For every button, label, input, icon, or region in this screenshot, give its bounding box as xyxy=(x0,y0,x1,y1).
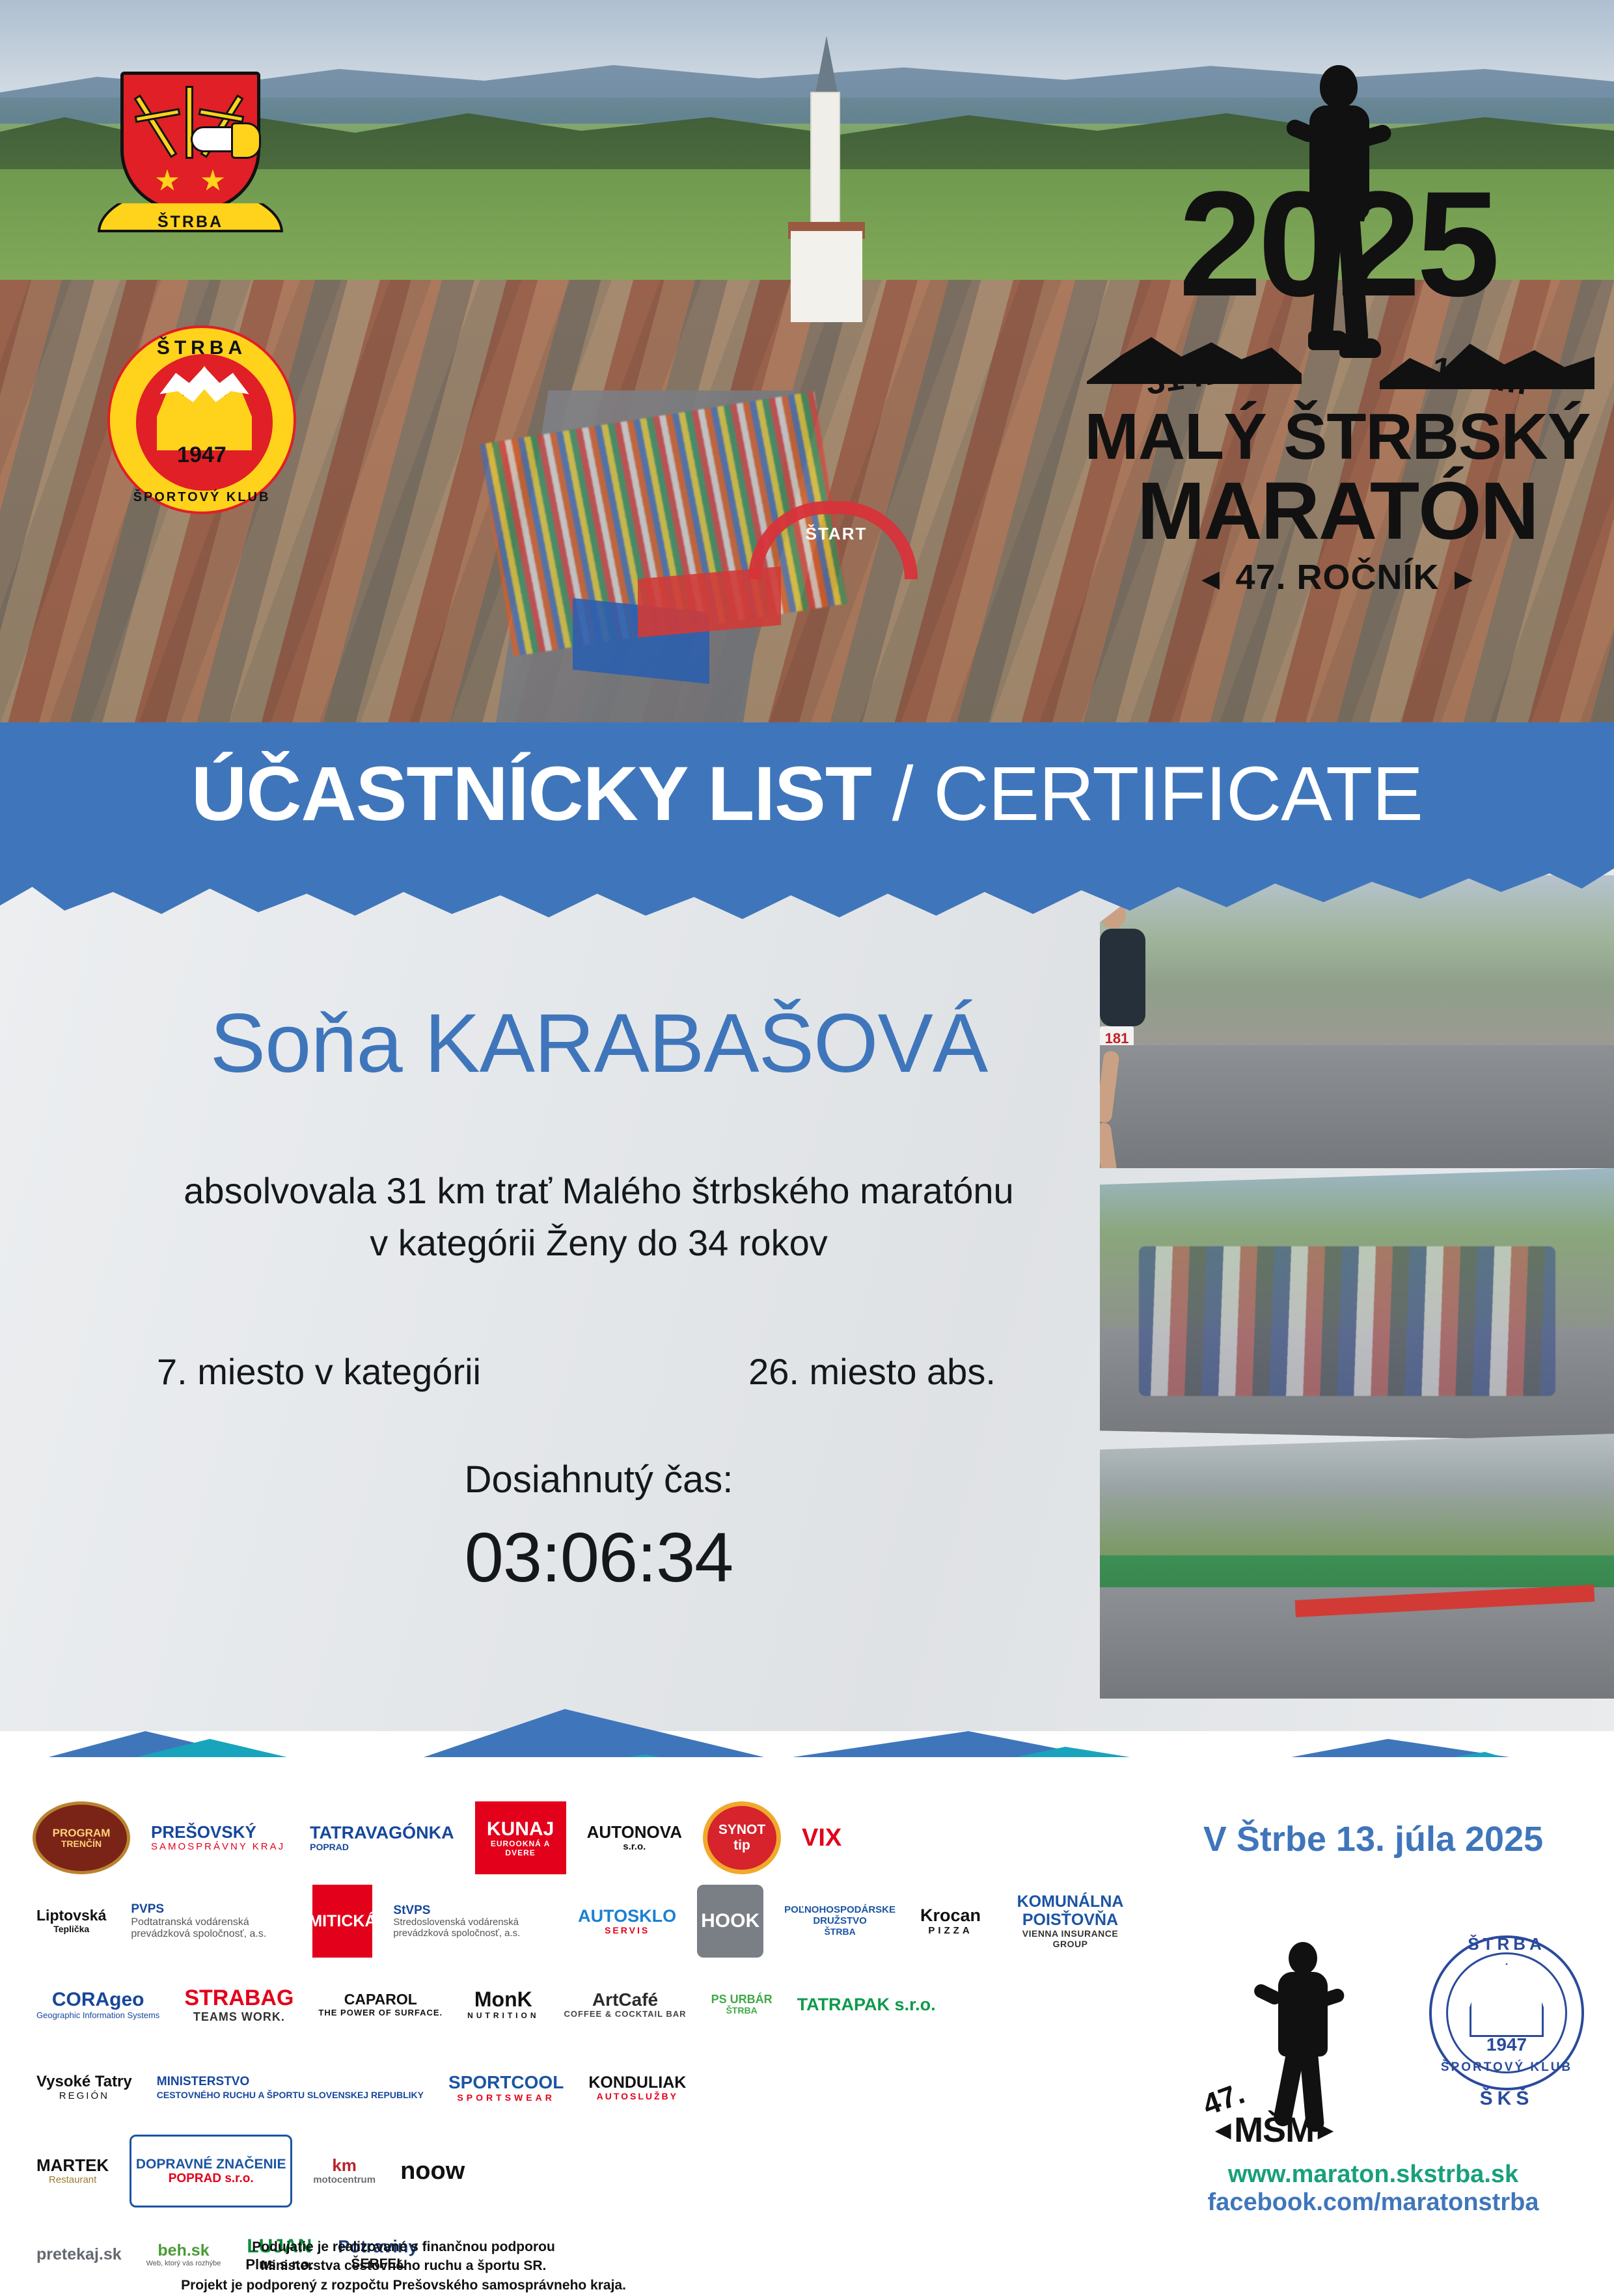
sponsor-row-5: MARTEKRestaurant DOPRAVNÉ ZNAČENIEPOPRAD… xyxy=(33,2129,1139,2213)
photo-runner-body xyxy=(1100,929,1145,1026)
sponsor-row-3: CORAgeoGeographic Information Systems ST… xyxy=(33,1963,1139,2046)
certificate-title-bold: ÚČASTNÍCKY LIST xyxy=(191,751,871,837)
sponsor-ministerstvo-sr: MINISTERSTVOCESTOVNÉHO RUCHU A ŠPORTU SL… xyxy=(153,2051,428,2124)
certificate-description: absolvovala 31 km trať Malého štrbského … xyxy=(52,1165,1145,1268)
sponsor-sub: TEAMS WORK. xyxy=(184,2010,294,2023)
sponsor-sub: POPRAD xyxy=(310,1842,454,1853)
sponsor-sub: REGIÓN xyxy=(36,2091,132,2102)
sponsor-sub: AUTOSLUŽBY xyxy=(588,2092,686,2102)
sponsor-autosklo-servis: AUTOSKLOSERVIS xyxy=(574,1885,680,1958)
sponsor-presovsky-kraj: PREŠOVSKÝSAMOSPRÁVNY KRAJ xyxy=(147,1801,289,1874)
description-line-2: v kategórii Ženy do 34 rokov xyxy=(52,1217,1145,1269)
sponsor-name: POĽNOHOSPODÁRSKE DRUŽSTVO xyxy=(784,1904,896,1926)
sponsor-sub: Teplička xyxy=(36,1924,106,1935)
fineprint-line-1: Podujatie je realizované s finančnou pod… xyxy=(59,2237,748,2256)
sponsor-strabag: STRABAGTEAMS WORK. xyxy=(180,1968,297,2041)
finish-time-value: 03:06:34 xyxy=(52,1516,1145,1598)
sponsor-name: VIX xyxy=(802,1824,841,1852)
place-absolute: 26. miesto abs. xyxy=(651,1350,1093,1393)
sponsor-artcafe: ArtCaféCOFFEE & COCKTAIL BAR xyxy=(560,1968,690,2041)
sponsor-name: MARTEK xyxy=(36,2155,109,2175)
sponsor-sub: Stredoslovenská vodárenská prevádzková s… xyxy=(393,1917,553,1939)
sponsor-vix: VIX xyxy=(798,1801,845,1874)
church-spire xyxy=(815,36,838,93)
sponsor-name: KUNAJ xyxy=(487,1818,554,1840)
sponsor-miticka: MITICKÁ xyxy=(312,1885,372,1958)
sleeve-icon xyxy=(231,122,261,159)
sponsor-name: PROGRAM xyxy=(53,1827,111,1839)
sponsor-row-2: LiptovskáTeplička PVPSPodtatranská vodár… xyxy=(33,1879,1139,1963)
sponsor-name: PS URBÁR xyxy=(711,1993,773,2006)
church-building xyxy=(791,36,862,309)
place-in-category: 7. miesto v kategórii xyxy=(78,1350,560,1393)
sponsor-name: MonK xyxy=(474,1988,532,2011)
sponsor-sub: NUTRITION xyxy=(467,2012,539,2020)
sponsor-martek-restaurant: MARTEKRestaurant xyxy=(33,2135,113,2207)
msm-abbr: MŠM xyxy=(1216,2110,1332,2150)
sks-club-stamp: ŠTRBA 1947 ŠPORTOVÝ KLUB ŠKŠ xyxy=(1419,1920,1594,2122)
msm-runner-body xyxy=(1278,1972,1328,2057)
issue-date: V Štrbe 13. júla 2025 xyxy=(1145,1819,1601,1859)
sponsor-sub: TRENČÍN xyxy=(53,1839,111,1850)
sponsor-corageo: CORAgeoGeographic Information Systems xyxy=(33,1968,163,2041)
photo-collage: 181 xyxy=(1100,875,1614,1699)
sponsor-kunaj: KUNAJEUROOKNÁ A DVERE xyxy=(475,1801,566,1874)
website-link[interactable]: www.maraton.skstrba.sk xyxy=(1132,2161,1614,2189)
sponsor-name: MINISTERSTVO xyxy=(157,2075,250,2088)
sponsor-name: PVPS xyxy=(131,1902,164,1916)
sponsor-synot-tip: SYNOT tip xyxy=(703,1801,781,1874)
sponsor-sub: Geographic Information Systems xyxy=(36,2011,159,2021)
sponsor-sub: PIZZA xyxy=(920,1926,981,1937)
sponsor-pd-strba: POĽNOHOSPODÁRSKE DRUŽSTVOŠTRBA xyxy=(780,1885,899,1958)
stamp-mid-label: ŠPORTOVÝ KLUB xyxy=(1419,2060,1594,2075)
sponsor-name: SYNOT tip xyxy=(718,1822,765,1853)
sponsor-name: AUTONOVA xyxy=(587,1822,682,1842)
start-label: ŠTART xyxy=(787,524,885,544)
sponsor-name: CAPAROL xyxy=(344,1991,417,2008)
sports-club-logo: ŠTRBA 1947 ŠPORTOVÝ KLUB xyxy=(107,325,296,514)
sponsor-hook: HOOK xyxy=(697,1885,763,1958)
runner-torso xyxy=(1309,105,1369,219)
facebook-link[interactable]: facebook.com/maratonstrba xyxy=(1132,2189,1614,2217)
sponsor-name: ArtCafé xyxy=(592,1989,658,2010)
sponsor-sub: SAMOSPRÁVNY KRAJ xyxy=(151,1842,285,1853)
sponsor-name: HOOK xyxy=(701,1910,759,1932)
sponsor-noow: noow xyxy=(396,2135,469,2207)
church-nave xyxy=(791,231,862,322)
race-title-line1: MALÝ ŠTRBSKÝ xyxy=(1067,403,1607,470)
stamp-top-label: ŠTRBA xyxy=(1419,1934,1594,1954)
sponsor-grid: PROGRAMTRENČÍN PREŠOVSKÝSAMOSPRÁVNY KRAJ… xyxy=(33,1796,1139,2296)
sponsor-name: km xyxy=(332,2155,357,2175)
sponsor-stvps: StVPSStredoslovenská vodárenská prevádzk… xyxy=(389,1885,557,1958)
sponsor-name: KONDULIAK xyxy=(588,2073,686,2092)
cross-icon xyxy=(185,86,193,159)
sponsor-km-motocentrum: kmmotocentrum xyxy=(309,2135,379,2207)
msm-emblem: 47. MŠM xyxy=(1197,1926,1386,2141)
sponsor-name: noow xyxy=(400,2157,465,2185)
sponsor-caparol: CAPAROLTHE POWER OF SURFACE. xyxy=(314,1968,446,2041)
club-bottom-label: ŠPORTOVÝ KLUB xyxy=(110,490,294,505)
sponsor-vysoke-tatry-region: Vysoké TatryREGIÓN xyxy=(33,2051,136,2124)
photo-runner-group xyxy=(1100,1168,1614,1442)
sponsor-name: Vysoké Tatry xyxy=(36,2073,132,2090)
sponsor-sub: Podtatranská vodárenská prevádzková spol… xyxy=(131,1917,292,1940)
sponsor-monk-nutrition: MonKNUTRITION xyxy=(463,1968,543,2041)
runner-shoe-right xyxy=(1339,338,1381,358)
sponsor-name: StVPS xyxy=(393,1904,430,1917)
sponsor-komunalna-poistovna: KOMUNÁLNA POISŤOVŇAVIENNA INSURANCE GROU… xyxy=(1002,1885,1139,1958)
sponsor-dopravne-znacenie-poprad: DOPRAVNÉ ZNAČENIEPOPRAD s.r.o. xyxy=(130,2135,292,2207)
sponsor-sub: SERVIS xyxy=(578,1926,676,1936)
sponsor-pvps: PVPSPodtatranská vodárenská prevádzková … xyxy=(127,1885,295,1958)
sponsor-name: Liptovská xyxy=(36,1907,106,1924)
sponsor-ps-urbar-strba: PS URBÁRŠTRBA xyxy=(707,1968,776,2041)
photo-road xyxy=(1100,1045,1614,1168)
sponsor-sportcool: SPORTCOOLSPORTSWEAR xyxy=(445,2051,568,2124)
fineprint-line-3: Projekt je podporený z rozpočtu Prešovsk… xyxy=(59,2276,748,2295)
certificate-title: ÚČASTNÍCKY LIST / CERTIFICATE xyxy=(0,742,1614,846)
sponsor-sub: THE POWER OF SURFACE. xyxy=(318,2008,443,2018)
sponsor-name: DOPRAVNÉ ZNAČENIE xyxy=(136,2157,286,2172)
certificate-title-light: / CERTIFICATE xyxy=(871,751,1423,837)
stamp-abbr-label: ŠKŠ xyxy=(1419,2088,1594,2110)
funding-fineprint: Podujatie je realizované s finančnou pod… xyxy=(59,2237,748,2295)
crest-banner-label: ŠTRBA xyxy=(100,213,280,232)
sponsor-name: SPORTCOOL xyxy=(448,2072,564,2092)
sponsor-tatravagonka: TATRAVAGÓNKAPOPRAD xyxy=(306,1801,458,1874)
sponsor-sub: VIENNA INSURANCE GROUP xyxy=(1005,1929,1135,1949)
runner-silhouette-icon xyxy=(1282,65,1396,377)
sponsor-liptovska-teplicka: LiptovskáTeplička xyxy=(33,1885,110,1958)
sponsor-sub: COFFEE & COCKTAIL BAR xyxy=(564,2010,686,2019)
description-line-1: absolvovala 31 km trať Malého štrbského … xyxy=(52,1165,1145,1217)
participant-name: Soňa KARABAŠOVÁ xyxy=(52,996,1145,1091)
sponsor-tatrapak: TATRAPAK s.r.o. xyxy=(793,1968,940,2041)
sponsor-sub: SPORTSWEAR xyxy=(448,2093,564,2103)
race-title-line2: MARATÓN xyxy=(1067,470,1607,553)
sponsor-sub: motocentrum xyxy=(313,2175,376,2186)
sponsor-name: TATRAVAGÓNKA xyxy=(310,1823,454,1842)
photo-finish-line xyxy=(1100,1434,1614,1699)
race-distance-short: 10 km xyxy=(1429,349,1530,403)
sponsor-program: PROGRAMTRENČÍN xyxy=(33,1801,130,1874)
sponsor-sub: ŠTRBA xyxy=(784,1927,896,1937)
runner-leg-right xyxy=(1337,209,1369,347)
sponsor-krocan-pizza: KrocanPIZZA xyxy=(916,1885,985,1958)
sponsor-row-1: PROGRAMTRENČÍN PREŠOVSKÝSAMOSPRÁVNY KRAJ… xyxy=(33,1796,1139,1879)
sponsor-name: STRABAG xyxy=(184,1986,294,2010)
sponsor-name: TATRAPAK s.r.o. xyxy=(797,1995,936,2014)
sponsor-sub: s.r.o. xyxy=(587,1842,682,1853)
sponsor-sub: EUROOKNÁ A DVERE xyxy=(479,1840,562,1857)
web-links: www.maraton.skstrba.sk facebook.com/mara… xyxy=(1132,2161,1614,2217)
fineprint-line-2: Ministerstva cestovného ruchu a športu S… xyxy=(59,2256,748,2275)
sponsor-sub: CESTOVNÉHO RUCHU A ŠPORTU SLOVENSKEJ REP… xyxy=(157,2090,424,2101)
sponsor-sub: Restaurant xyxy=(36,2175,109,2186)
sponsor-sub: ŠTRBA xyxy=(711,2006,773,2016)
sponsor-name: MITICKÁ xyxy=(308,1912,376,1930)
sponsor-name: KOMUNÁLNA POISŤOVŇA xyxy=(1017,1893,1124,1929)
sponsor-row-4: Vysoké TatryREGIÓN MINISTERSTVOCESTOVNÉH… xyxy=(33,2046,1139,2129)
runner-head xyxy=(1320,65,1358,108)
sponsor-konduliak: KONDULIAKAUTOSLUŽBY xyxy=(584,2051,690,2124)
sponsor-name: AUTOSKLO xyxy=(578,1906,676,1926)
finish-time-label: Dosiahnutý čas: xyxy=(52,1458,1145,1501)
stamp-year-label: 1947 xyxy=(1419,2034,1594,2055)
club-top-label: ŠTRBA xyxy=(110,337,294,359)
sponsor-name: Krocan xyxy=(920,1906,981,1925)
strba-coat-of-arms: ŠTRBA xyxy=(120,72,260,241)
msm-runner-head xyxy=(1289,1942,1317,1975)
club-year-label: 1947 xyxy=(110,443,294,468)
sponsor-autonova: AUTONOVAs.r.o. xyxy=(583,1801,686,1874)
sponsor-name: CORAgeo xyxy=(52,1989,144,2010)
sponsor-name: PREŠOVSKÝ xyxy=(151,1822,256,1842)
race-edition: 47. ROČNÍK xyxy=(1067,557,1607,597)
sponsor-sub: POPRAD s.r.o. xyxy=(136,2172,286,2185)
race-logo: 2025 31 km 10 km MALÝ ŠTRBSKÝ MARATÓN 47… xyxy=(1067,39,1607,599)
photo-finisher: 181 xyxy=(1100,875,1614,1168)
photo-runner-pack xyxy=(1139,1246,1555,1396)
